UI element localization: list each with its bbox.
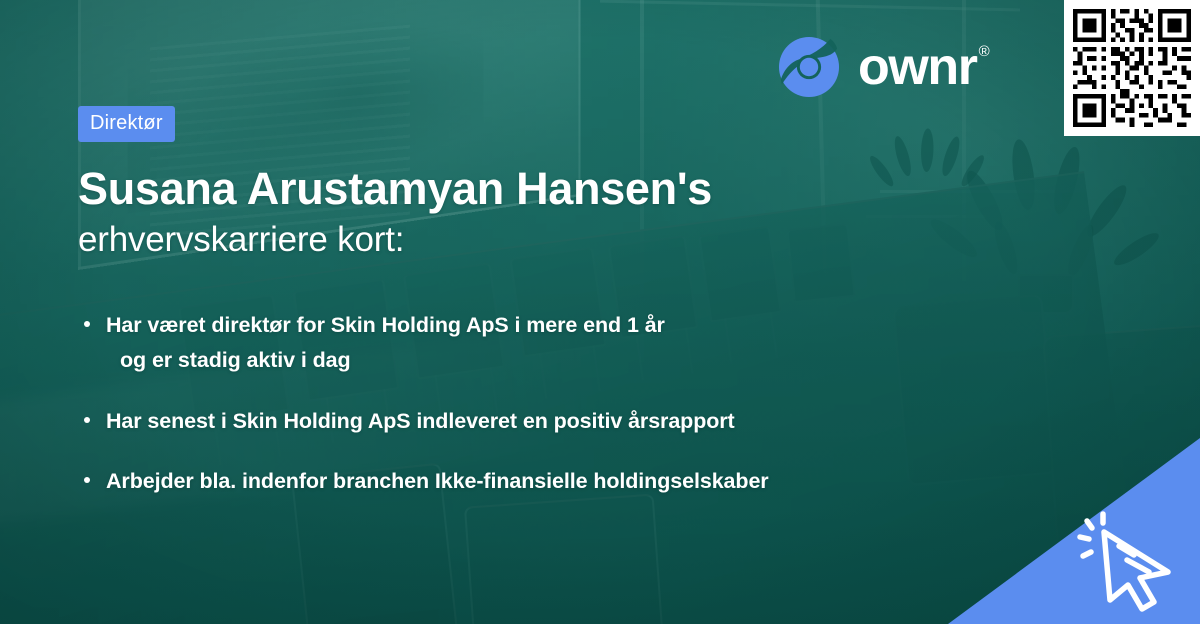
page-title: Susana Arustamyan Hansen's: [78, 164, 978, 214]
card-content: Direktør Susana Arustamyan Hansen's erhv…: [78, 106, 978, 261]
ownr-wordmark: ownr ®: [858, 41, 990, 93]
ownr-wordmark-text: ownr: [858, 41, 977, 93]
ownr-logo: ownr ®: [778, 36, 990, 98]
click-cursor-icon: [1072, 502, 1184, 614]
qr-code-icon: [1073, 9, 1191, 127]
list-item: Arbejder bla. indenfor branchen Ikke-fin…: [80, 464, 1060, 499]
list-item-line1: Arbejder bla. indenfor branchen Ikke-fin…: [106, 469, 769, 493]
bullet-dot: [84, 477, 90, 483]
career-card: Direktør Susana Arustamyan Hansen's erhv…: [0, 0, 1200, 624]
list-item-line1: Har senest i Skin Holding ApS indleveret…: [106, 409, 735, 433]
list-item-line2: og er stadig aktiv i dag: [106, 343, 1060, 378]
bullet-dot: [84, 321, 90, 327]
list-item: Har senest i Skin Holding ApS indleveret…: [80, 404, 1060, 439]
qr-code[interactable]: [1064, 0, 1200, 136]
ownr-circle-swoosh-icon: [778, 36, 840, 98]
list-item-line1: Har været direktør for Skin Holding ApS …: [106, 313, 665, 337]
registered-trademark-icon: ®: [979, 44, 990, 59]
role-badge: Direktør: [78, 106, 175, 142]
bullet-dot: [84, 417, 90, 423]
list-item: Har været direktør for Skin Holding ApS …: [80, 308, 1060, 378]
page-subtitle: erhvervskarriere kort:: [78, 220, 978, 260]
career-facts-list: Har været direktør for Skin Holding ApS …: [80, 308, 1060, 525]
